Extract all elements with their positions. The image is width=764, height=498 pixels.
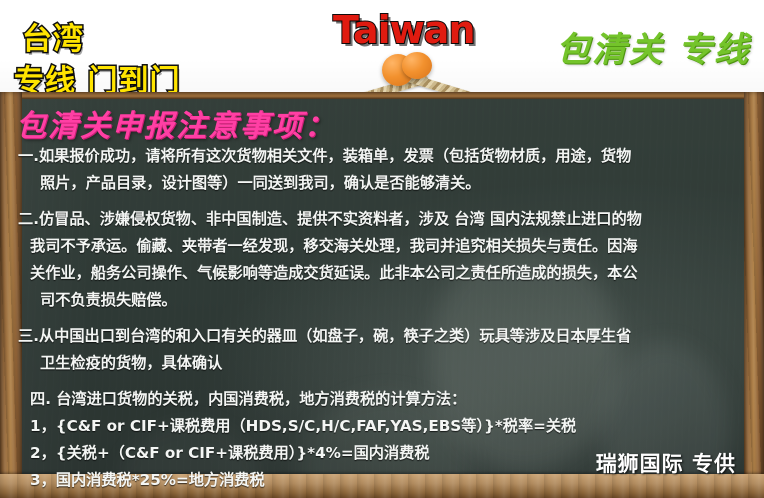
company-signature: 瑞狮国际 专供 (596, 448, 736, 478)
notice-line: 1，{C&F or CIF+课税费用（HDS,S/C,H/C,FAF,YAS,E… (18, 413, 762, 440)
banner-center-title: Taiwan (333, 8, 475, 52)
board-title: 包清关申报注意事项： (16, 101, 336, 145)
notice-line: 照片，产品目录，设计图等）一同送到我司，确认是否能够清关。 (18, 170, 762, 197)
poster-canvas: 台湾 专线 门到门 Taiwan 包清关 专线 包清关申报注意事项： 一.如果报… (0, 0, 764, 498)
notice-line: 二.仿冒品、涉嫌侵权货物、非中国制造、提供不实资料者，涉及 台湾 国内法规禁止进… (18, 206, 762, 233)
top-banner: 台湾 专线 门到门 Taiwan 包清关 专线 (0, 0, 764, 100)
notice-line: 四. 台湾进口货物的关税，内国消费税，地方消费税的计算方法： (18, 386, 762, 413)
notice-line: 三.从中国出口到台湾的和入口有关的器皿（如盘子，碗，筷子之类）玩具等涉及日本厚生… (18, 323, 762, 350)
notice-item-3: 三.从中国出口到台湾的和入口有关的器皿（如盘子，碗，筷子之类）玩具等涉及日本厚生… (18, 323, 762, 377)
orange-knot-icon (382, 52, 436, 86)
notice-line: 关作业，船务公司操作、气候影响等造成交货延误。此非本公司之责任所造成的损失，本公 (18, 260, 762, 287)
notice-line: 卫生检疫的货物，具体确认 (18, 350, 762, 377)
notice-line: 一.如果报价成功，请将所有这次货物相关文件，装箱单，发票（包括货物材质，用途，货… (18, 143, 762, 170)
banner-left-line1: 台湾 (22, 14, 84, 58)
notice-line: 我司不予承运。偷藏、夹带者一经发现，移交海关处理，我司并追究相关损失与责任。因海 (18, 233, 762, 260)
notice-line: 司不负责损失赔偿。 (18, 287, 762, 314)
notice-item-2: 二.仿冒品、涉嫌侵权货物、非中国制造、提供不实资料者，涉及 台湾 国内法规禁止进… (18, 206, 762, 314)
banner-right-title: 包清关 专线 (556, 22, 750, 71)
frame-top (0, 92, 764, 99)
notice-item-1: 一.如果报价成功，请将所有这次货物相关文件，装箱单，发票（包括货物材质，用途，货… (18, 143, 762, 197)
board-body: 一.如果报价成功，请将所有这次货物相关文件，装箱单，发票（包括货物材质，用途，货… (18, 143, 762, 495)
